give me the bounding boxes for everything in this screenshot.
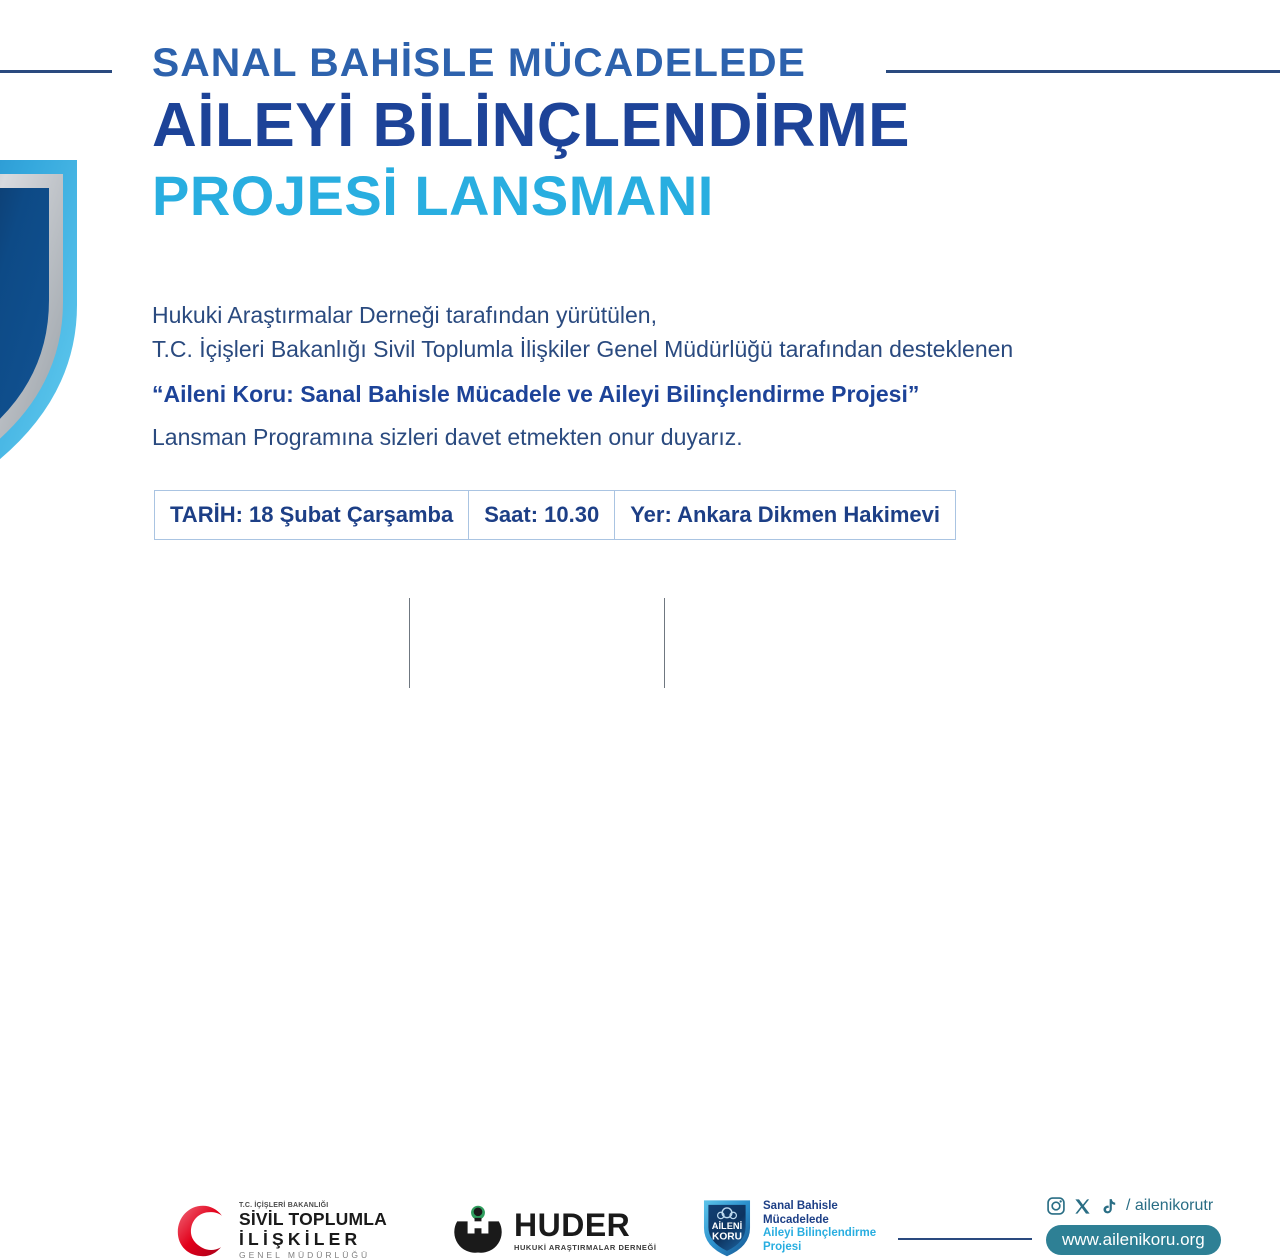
social-handle-row: / ailenikorutr <box>1046 1194 1221 1218</box>
huder-subtitle: HUKUKİ ARAŞTIRMALAR DERNEĞİ <box>514 1244 657 1252</box>
event-venue: Yer: Ankara Dikmen Hakimevi <box>614 491 955 539</box>
headline-line-2: AİLEYİ BİLİNÇLENDİRME <box>152 90 910 162</box>
ministry-logo: T.C. İÇİŞLERİ BAKANLIĞI SİVİL TOPLUMLA İ… <box>176 1202 387 1260</box>
social-handle: / ailenikorutr <box>1126 1197 1213 1215</box>
project-text-line-4: Projesi <box>763 1241 876 1255</box>
crescent-star-icon <box>176 1204 230 1258</box>
event-date: TARİH: 18 Şubat Çarşamba <box>155 491 468 539</box>
event-details-box: TARİH: 18 Şubat Çarşamba Saat: 10.30 Yer… <box>154 490 956 540</box>
footer-rule <box>898 1238 1032 1240</box>
footer-divider-2 <box>664 598 665 688</box>
headline-rule-left <box>0 70 112 73</box>
ministry-logo-text: T.C. İÇİŞLERİ BAKANLIĞI SİVİL TOPLUMLA İ… <box>239 1202 387 1260</box>
event-time: Saat: 10.30 <box>468 491 614 539</box>
project-text-line-3: Aileyi Bilinçlendirme <box>763 1227 876 1241</box>
project-logo-text: Sanal Bahisle Mücadelede Aileyi Bilinçle… <box>763 1200 876 1254</box>
decorative-shield-graphic <box>0 150 132 480</box>
website-button[interactable]: www.ailenikoru.org <box>1046 1225 1221 1255</box>
instagram-icon[interactable] <box>1046 1196 1066 1216</box>
headline-rule-right <box>886 70 1280 73</box>
huder-name: HUDER <box>514 1209 657 1241</box>
tiktok-icon[interactable] <box>1099 1197 1117 1216</box>
project-text-line-1: Sanal Bahisle <box>763 1200 876 1214</box>
ministry-line-2: SİVİL TOPLUMLA <box>239 1211 387 1229</box>
body-line-2: T.C. İçişleri Bakanlığı Sivil Toplumla İ… <box>152 332 1013 366</box>
headline-line-3: PROJESİ LANSMANI <box>152 164 910 228</box>
huder-logo: HUDER HUKUKİ ARAŞTIRMALAR DERNEĞİ <box>452 1204 657 1256</box>
x-icon[interactable] <box>1073 1197 1092 1216</box>
headline-block: SANAL BAHİSLE MÜCADELEDE AİLEYİ BİLİNÇLE… <box>152 40 910 228</box>
social-block: / ailenikorutr www.ailenikoru.org <box>1046 1194 1221 1255</box>
footer-divider-1 <box>409 598 410 688</box>
body-line-1: Hukuki Araştırmalar Derneği tarafından y… <box>152 298 1013 332</box>
project-logo: AİLENİ KORU Sanal Bahisle Mücadelede Ail… <box>700 1196 876 1258</box>
ministry-line-1: T.C. İÇİŞLERİ BAKANLIĞI <box>239 1202 387 1209</box>
ministry-line-3: İLİŞKİLER <box>239 1231 387 1249</box>
svg-text:AİLENİ: AİLENİ <box>712 1221 742 1231</box>
aileni-koru-shield-icon: AİLENİ KORU <box>700 1196 754 1258</box>
ministry-line-4: GENEL MÜDÜRLÜĞÜ <box>239 1251 387 1260</box>
svg-text:KORU: KORU <box>712 1231 742 1242</box>
footer-logo-bar: T.C. İÇİŞLERİ BAKANLIĞI SİVİL TOPLUMLA İ… <box>0 590 1280 700</box>
body-copy-block: Hukuki Araştırmalar Derneği tarafından y… <box>152 298 1013 454</box>
invitation-text: Lansman Programına sizleri davet etmekte… <box>152 420 1013 454</box>
headline-line-1: SANAL BAHİSLE MÜCADELEDE <box>152 40 925 86</box>
project-title-text: “Aileni Koru: Sanal Bahisle Mücadele ve … <box>152 377 1013 411</box>
huder-emblem-icon <box>452 1204 504 1256</box>
project-text-line-2: Mücadelede <box>763 1214 876 1228</box>
huder-logo-text: HUDER HUKUKİ ARAŞTIRMALAR DERNEĞİ <box>514 1209 657 1252</box>
